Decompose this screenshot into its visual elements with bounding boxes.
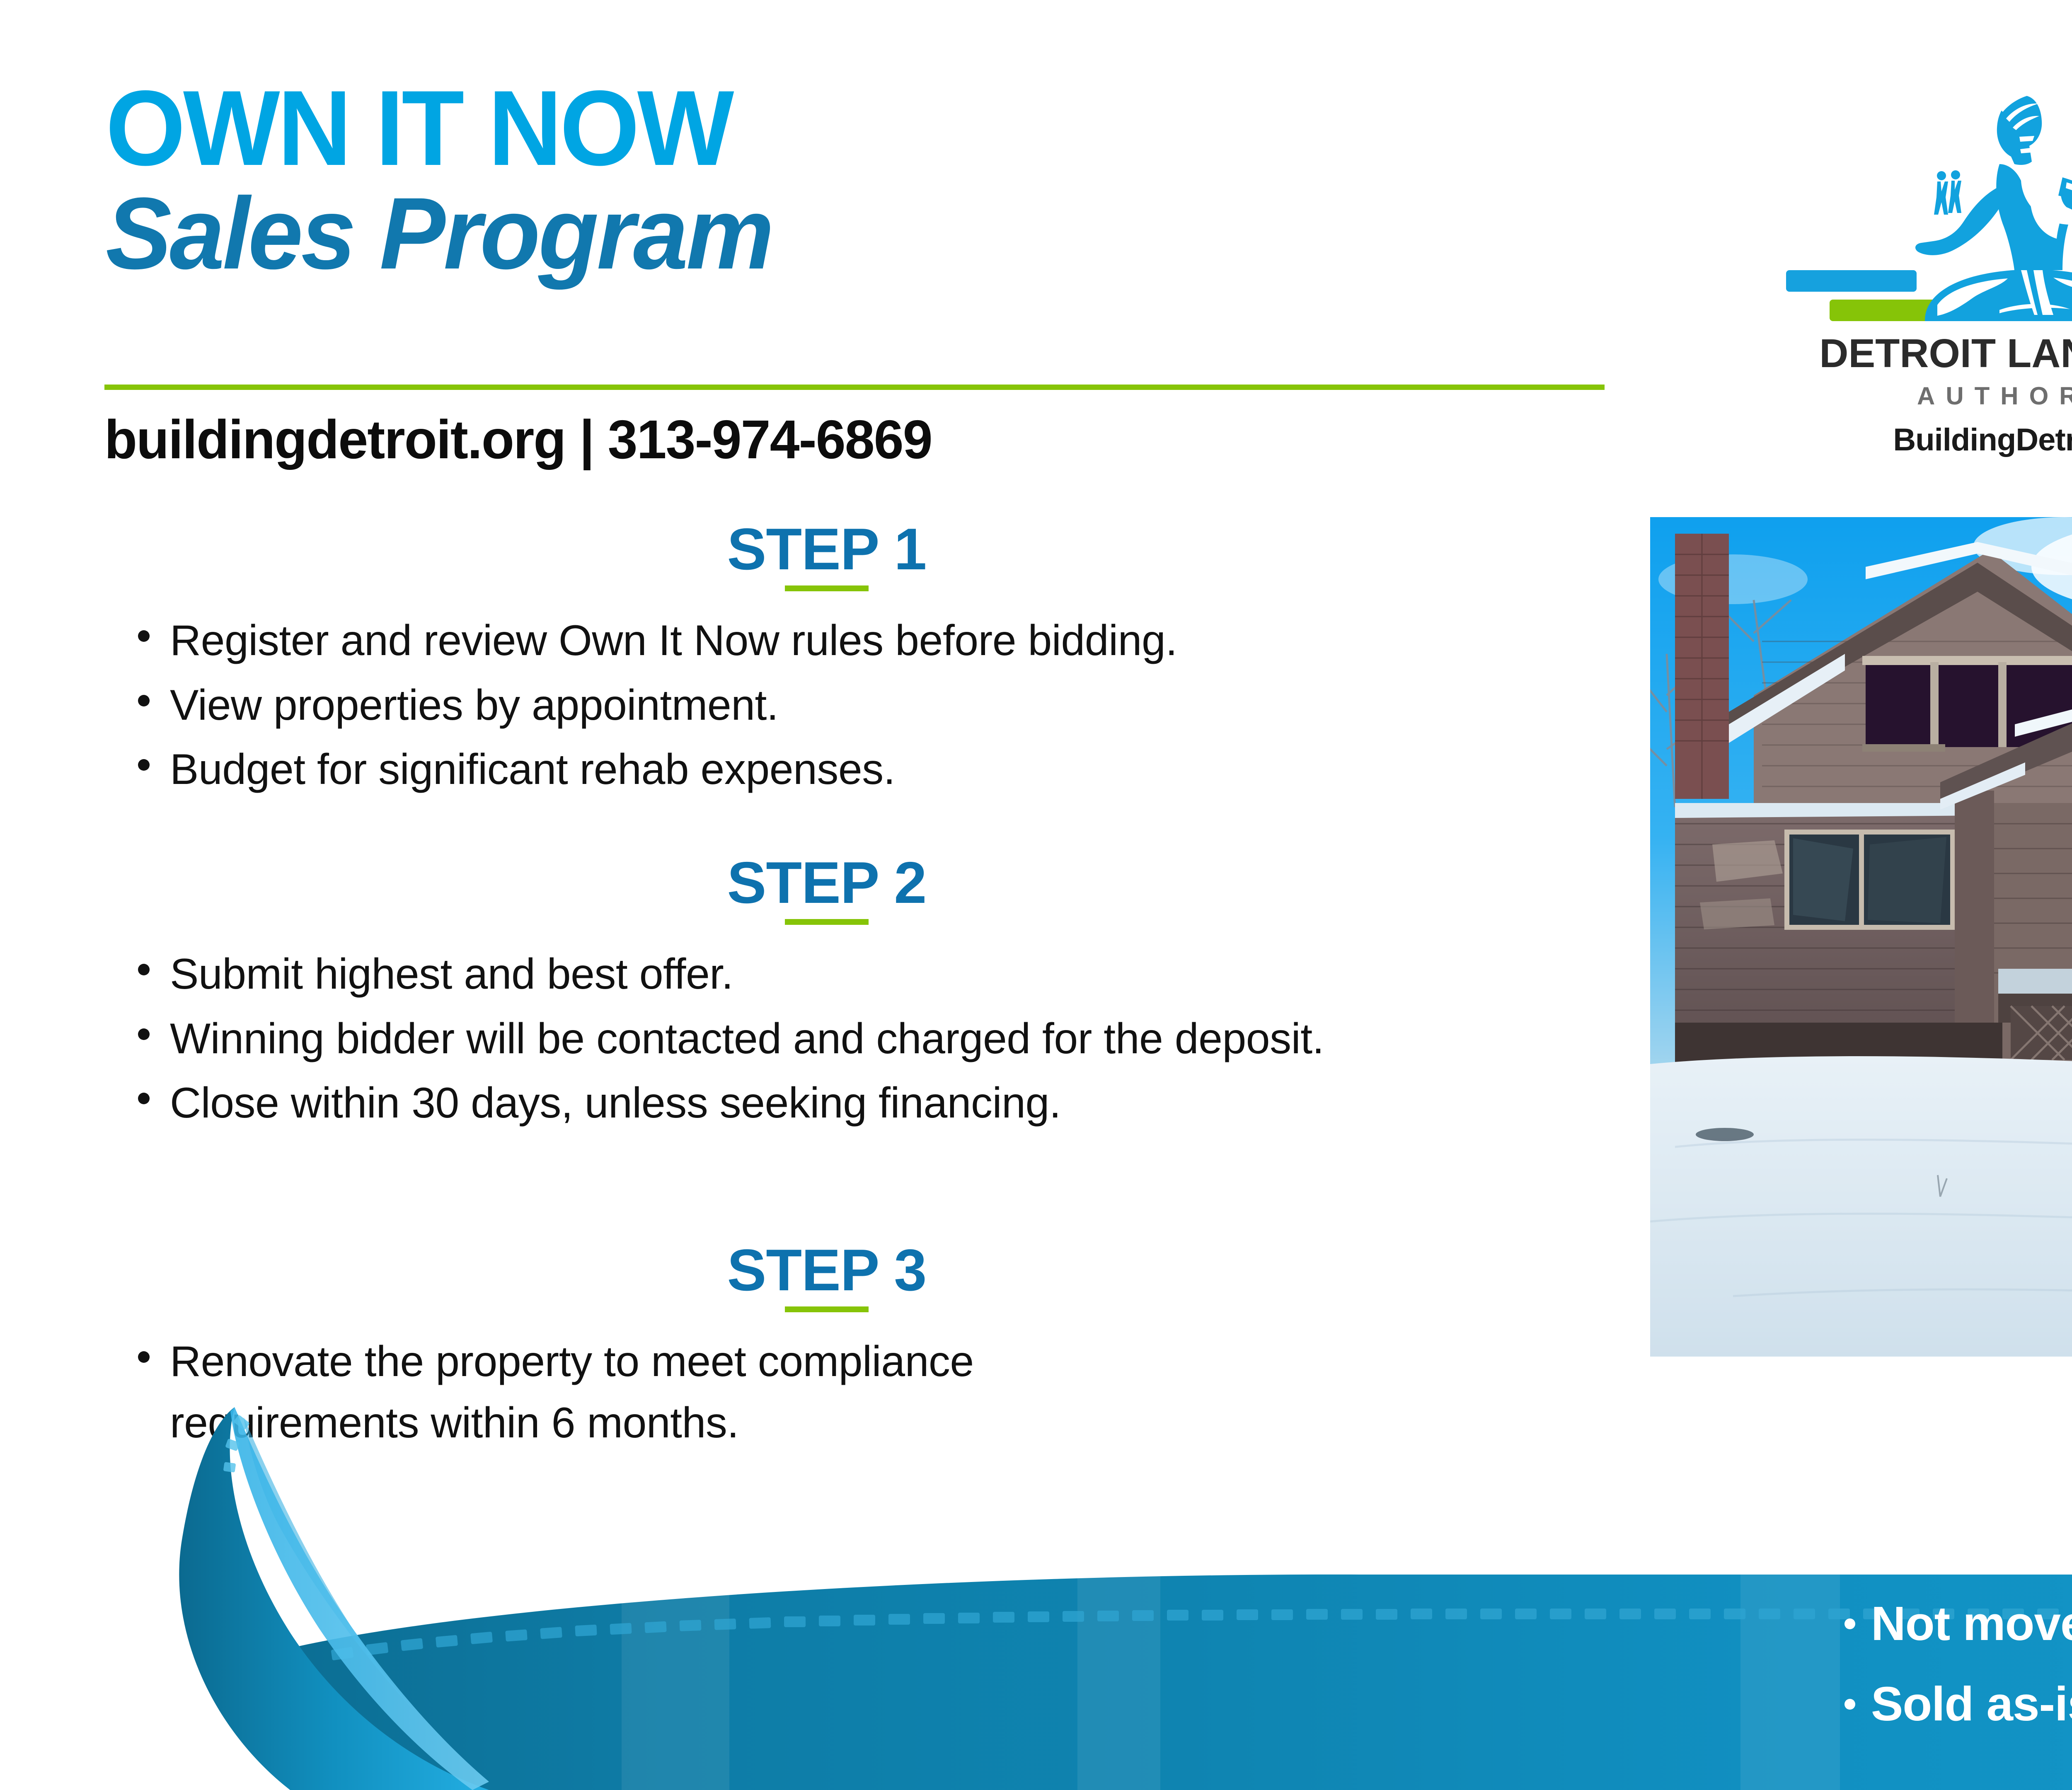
list-item: Submit highest and best offer. — [106, 944, 1548, 1005]
list-item: Not move-in ready — [1833, 1599, 2072, 1647]
list-item: View properties by appointment. — [106, 675, 1548, 736]
list-item: Close within 30 days, unless seeking fin… — [106, 1073, 1548, 1134]
step-2-list: Submit highest and best offer. Winning b… — [106, 944, 1548, 1134]
step-1-underline — [785, 585, 869, 591]
logo-subtitle: AUTHORITY — [1786, 382, 2072, 410]
step-2-underline — [785, 919, 869, 925]
step-2-heading: STEP 2 — [106, 854, 1548, 912]
step-3-heading: STEP 3 — [106, 1241, 1548, 1300]
logo-url[interactable]: BuildingDetroit.org — [1786, 422, 2072, 458]
contact-line[interactable]: buildingdetroit.org | 313-974-6869 — [104, 408, 932, 471]
step-3-list: Renovate the property to meet compliance… — [106, 1331, 1548, 1454]
property-photo — [1650, 517, 2072, 1357]
logo-mark — [1786, 83, 2072, 321]
step-block-3: STEP 3 Renovate the property to meet com… — [106, 1241, 1548, 1457]
list-item: Register and review Own It Now rules bef… — [106, 610, 1548, 672]
list-item: Renovate the property to meet compliance… — [106, 1331, 1225, 1454]
logo-name: DETROIT LAND BANK — [1786, 330, 2072, 377]
page-title-secondary: Sales Program — [106, 182, 1561, 286]
step-3-underline — [785, 1306, 869, 1312]
detroit-land-bank-logo: DETROIT LAND BANK AUTHORITY BuildingDetr… — [1786, 83, 2072, 458]
bottom-ribbon — [0, 1401, 2072, 1790]
step-1-list: Register and review Own It Now rules bef… — [106, 610, 1548, 801]
list-item: Sold as-is, where-is — [1833, 1680, 2072, 1728]
list-item: Winning bidder will be contacted and cha… — [106, 1009, 1548, 1070]
step-1-heading: STEP 1 — [106, 520, 1548, 579]
page-title-primary: OWN IT NOW — [106, 77, 1546, 179]
step-block-1: STEP 1 Register and review Own It Now ru… — [106, 520, 1548, 804]
spirit-of-detroit-icon — [1875, 83, 2072, 321]
headline-block: OWN IT NOW Sales Program — [106, 77, 1606, 286]
step-block-2: STEP 2 Submit highest and best offer. Wi… — [106, 854, 1548, 1137]
ribbon-list: Not move-in ready Sold as-is, where-is — [1833, 1599, 2072, 1728]
list-item: Budget for significant rehab expenses. — [106, 739, 1548, 801]
green-divider — [104, 385, 1605, 390]
ribbon-text-block: Not move-in ready Sold as-is, where-is — [1833, 1599, 2072, 1760]
